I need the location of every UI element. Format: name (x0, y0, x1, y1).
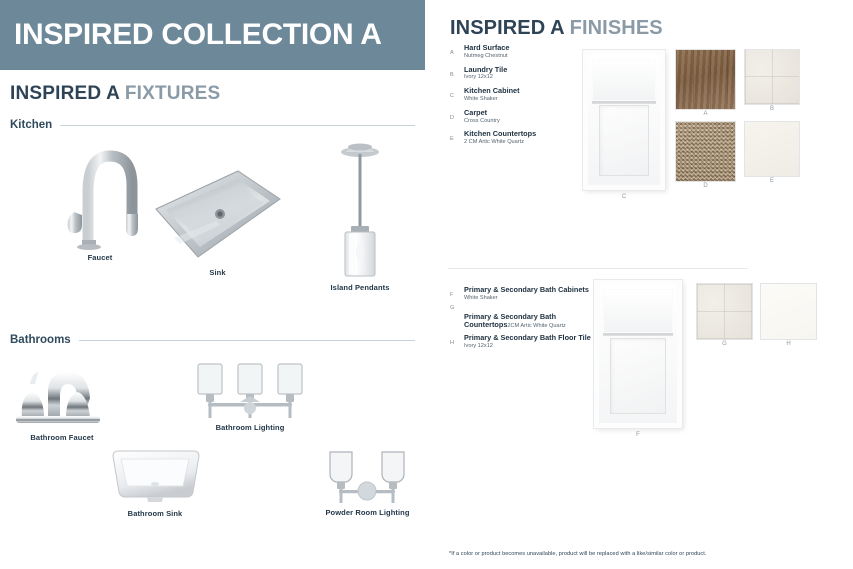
fixture-caption: Powder Room Lighting (310, 508, 425, 517)
section-header-bathrooms: Bathrooms (10, 334, 415, 346)
door-recessed-panel (610, 338, 666, 414)
swatch-key-c: C (583, 194, 665, 200)
finishes-heading-light: FINISHES (570, 17, 663, 39)
swatch-key-a: A (676, 111, 735, 117)
legend-sub: Ivory 12x12 (464, 74, 585, 81)
fixture-bathroom-lighting: Bathroom Lighting (190, 362, 310, 432)
fixture-powder-room-lighting: Powder Room Lighting (310, 450, 425, 517)
legend-key: C (450, 93, 454, 99)
bathroom-sink-icon (95, 448, 215, 506)
legend-name: Hard Surface (464, 44, 585, 52)
fixtures-heading-light: FIXTURES (125, 83, 221, 104)
door-drawer-front (592, 59, 656, 103)
carpet-swatch: D (676, 122, 735, 181)
swatch-key-g: G (697, 341, 752, 347)
legend-item: E Kitchen Countertops 2 CM Artic White Q… (450, 130, 585, 146)
pendant-light-icon (305, 130, 415, 280)
bath-cabinet-door (594, 280, 682, 428)
fixture-kitchen-faucet: Faucet (40, 140, 160, 262)
bathroom-faucet-icon (2, 358, 122, 430)
swatch-key-b: B (745, 106, 799, 112)
legend-name: Laundry Tile (464, 66, 585, 74)
legend-name: Primary & Secondary Bath Cabinets (464, 286, 595, 294)
fixture-caption: Bathroom Lighting (190, 423, 310, 432)
bath-countertop-swatch: G (697, 284, 752, 339)
fixture-bathroom-sink: Bathroom Sink (95, 448, 215, 518)
fixture-caption: Island Pendants (305, 283, 415, 292)
fixture-caption: Faucet (40, 253, 160, 262)
kitchen-faucet-icon (40, 140, 160, 250)
legend-item: H Primary & Secondary Bath Floor Tile Iv… (450, 334, 595, 350)
legend-item: B Laundry Tile Ivory 12x12 (450, 66, 585, 82)
section-label-kitchen: Kitchen (10, 119, 52, 131)
legend-key: G (450, 305, 455, 311)
section-divider (60, 125, 415, 126)
legend-key: B (450, 72, 454, 78)
section-divider (79, 340, 415, 341)
legend-sub: Ivory 12x12 (464, 343, 595, 350)
finishes-heading-strong: INSPIRED A (450, 17, 564, 39)
kitchen-sink-icon (150, 165, 285, 265)
page-title: INSPIRED COLLECTION A (0, 20, 382, 50)
legend-key: H (450, 340, 454, 346)
legend-secondary: F Primary & Secondary Bath Cabinets Whit… (450, 286, 595, 356)
legend-name: Kitchen Countertops (464, 130, 585, 138)
legend-item: D Carpet Cross Country (450, 109, 585, 125)
legend-item: A Hard Surface Nutmeg Chestnut (450, 44, 585, 60)
legend-key: A (450, 50, 454, 56)
fixture-caption: Bathroom Faucet (2, 433, 122, 442)
finishes-heading: INSPIRED A FINISHES (450, 17, 663, 40)
swatch-key-h: H (761, 341, 816, 347)
two-light-vanity-icon (310, 450, 425, 505)
fixtures-heading: INSPIRED A FIXTURES (10, 83, 220, 105)
legend-key: F (450, 292, 454, 298)
legend-item: F Primary & Secondary Bath Cabinets Whit… (450, 286, 595, 302)
disclaimer-text: *If a color or product becomes unavailab… (449, 551, 706, 557)
door-drawer-front (603, 289, 673, 335)
bath-floor-tile-swatch: H (761, 284, 816, 339)
fixture-caption: Sink (150, 268, 285, 277)
fixture-island-pendants: Island Pendants (305, 130, 415, 292)
kitchen-countertop-swatch: E (745, 122, 799, 176)
legend-key: E (450, 136, 454, 142)
collection-sheet: INSPIRED COLLECTION A INSPIRED A FIXTURE… (0, 0, 853, 569)
legend-sub: Nutmeg Chestnut (464, 53, 585, 60)
legend-name: Primary & Secondary Bath Floor Tile (464, 334, 595, 342)
legend-sub: 2 CM Artic White Quartz (464, 139, 585, 146)
three-light-vanity-icon (190, 362, 310, 420)
fixture-caption: Bathroom Sink (95, 509, 215, 518)
fixtures-heading-strong: INSPIRED A (10, 83, 119, 104)
legend-sub: White Shaker (464, 96, 585, 103)
fixture-kitchen-sink: Sink (150, 165, 285, 277)
legend-item: C Kitchen Cabinet White Shaker (450, 87, 585, 103)
legend-key: D (450, 115, 454, 121)
legend-name: Carpet (464, 109, 585, 117)
collection-banner: INSPIRED COLLECTION A (0, 0, 425, 70)
fixture-bathroom-faucet: Bathroom Faucet (2, 358, 122, 442)
kitchen-cabinet-door (583, 50, 665, 190)
legend-item: G Primary & Secondary Bath Countertops2C… (450, 313, 595, 330)
swatch-key-d: D (676, 183, 735, 189)
section-label-bathrooms: Bathrooms (10, 334, 71, 346)
swatch-key-e: E (745, 178, 799, 184)
hard-surface-swatch: A (676, 50, 735, 109)
panel-divider (448, 268, 748, 269)
swatch-key-f: F (594, 432, 682, 438)
legend-inline-sub: 2CM Artic White Quartz (507, 323, 565, 329)
door-recessed-panel (599, 105, 649, 176)
laundry-tile-swatch: B (745, 50, 799, 104)
legend-name: Kitchen Cabinet (464, 87, 585, 95)
legend-name: Primary & Secondary Bath Countertops2CM … (464, 313, 595, 330)
legend-sub: White Shaker (464, 295, 595, 302)
legend-sub: Cross Country (464, 118, 585, 125)
legend-primary: A Hard Surface Nutmeg Chestnut B Laundry… (450, 44, 585, 152)
